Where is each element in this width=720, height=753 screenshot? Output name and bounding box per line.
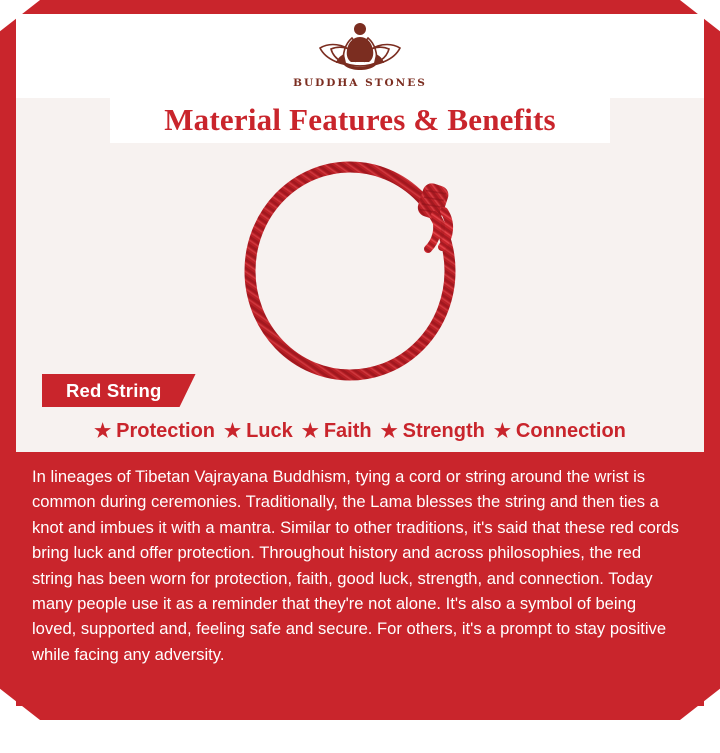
benefit-label: Faith <box>324 420 372 443</box>
infographic-page: BUDDHA STONES Material Features & Benefi… <box>0 0 720 720</box>
star-icon: ★ <box>494 422 511 441</box>
frame-right-bar <box>704 0 720 720</box>
benefit-label: Connection <box>516 420 626 443</box>
product-name-tag: Red String <box>42 374 196 407</box>
description-text: In lineages of Tibetan Vajrayana Buddhis… <box>32 464 682 667</box>
benefit-item: ★ Luck <box>215 420 293 443</box>
benefit-item: ★ Connection <box>485 420 626 443</box>
product-image-area <box>16 145 704 395</box>
star-icon: ★ <box>94 422 111 441</box>
product-name-label: Red String <box>66 380 162 402</box>
title-ribbon: Material Features & Benefits <box>110 97 610 143</box>
benefits-row: ★ Protection ★ Luck ★ Faith ★ Strength ★… <box>16 420 704 443</box>
frame-top-bar <box>0 0 720 14</box>
benefit-label: Luck <box>246 420 293 443</box>
red-braided-string-bracelet <box>230 153 490 383</box>
benefit-item: ★ Strength <box>372 420 485 443</box>
benefit-item: ★ Faith <box>293 420 372 443</box>
frame-bottom-bar <box>0 706 720 720</box>
benefit-label: Strength <box>403 420 485 443</box>
lotus-meditation-icon <box>314 16 406 74</box>
benefit-label: Protection <box>116 420 215 443</box>
brand-name: BUDDHA STONES <box>293 77 427 89</box>
frame-left-bar <box>0 0 16 720</box>
benefit-item: ★ Protection <box>94 420 215 443</box>
brand-logo: BUDDHA STONES <box>0 16 720 89</box>
description-block: In lineages of Tibetan Vajrayana Buddhis… <box>16 452 704 706</box>
page-title: Material Features & Benefits <box>164 102 556 138</box>
star-icon: ★ <box>302 422 319 441</box>
star-icon: ★ <box>224 422 241 441</box>
star-icon: ★ <box>381 422 398 441</box>
